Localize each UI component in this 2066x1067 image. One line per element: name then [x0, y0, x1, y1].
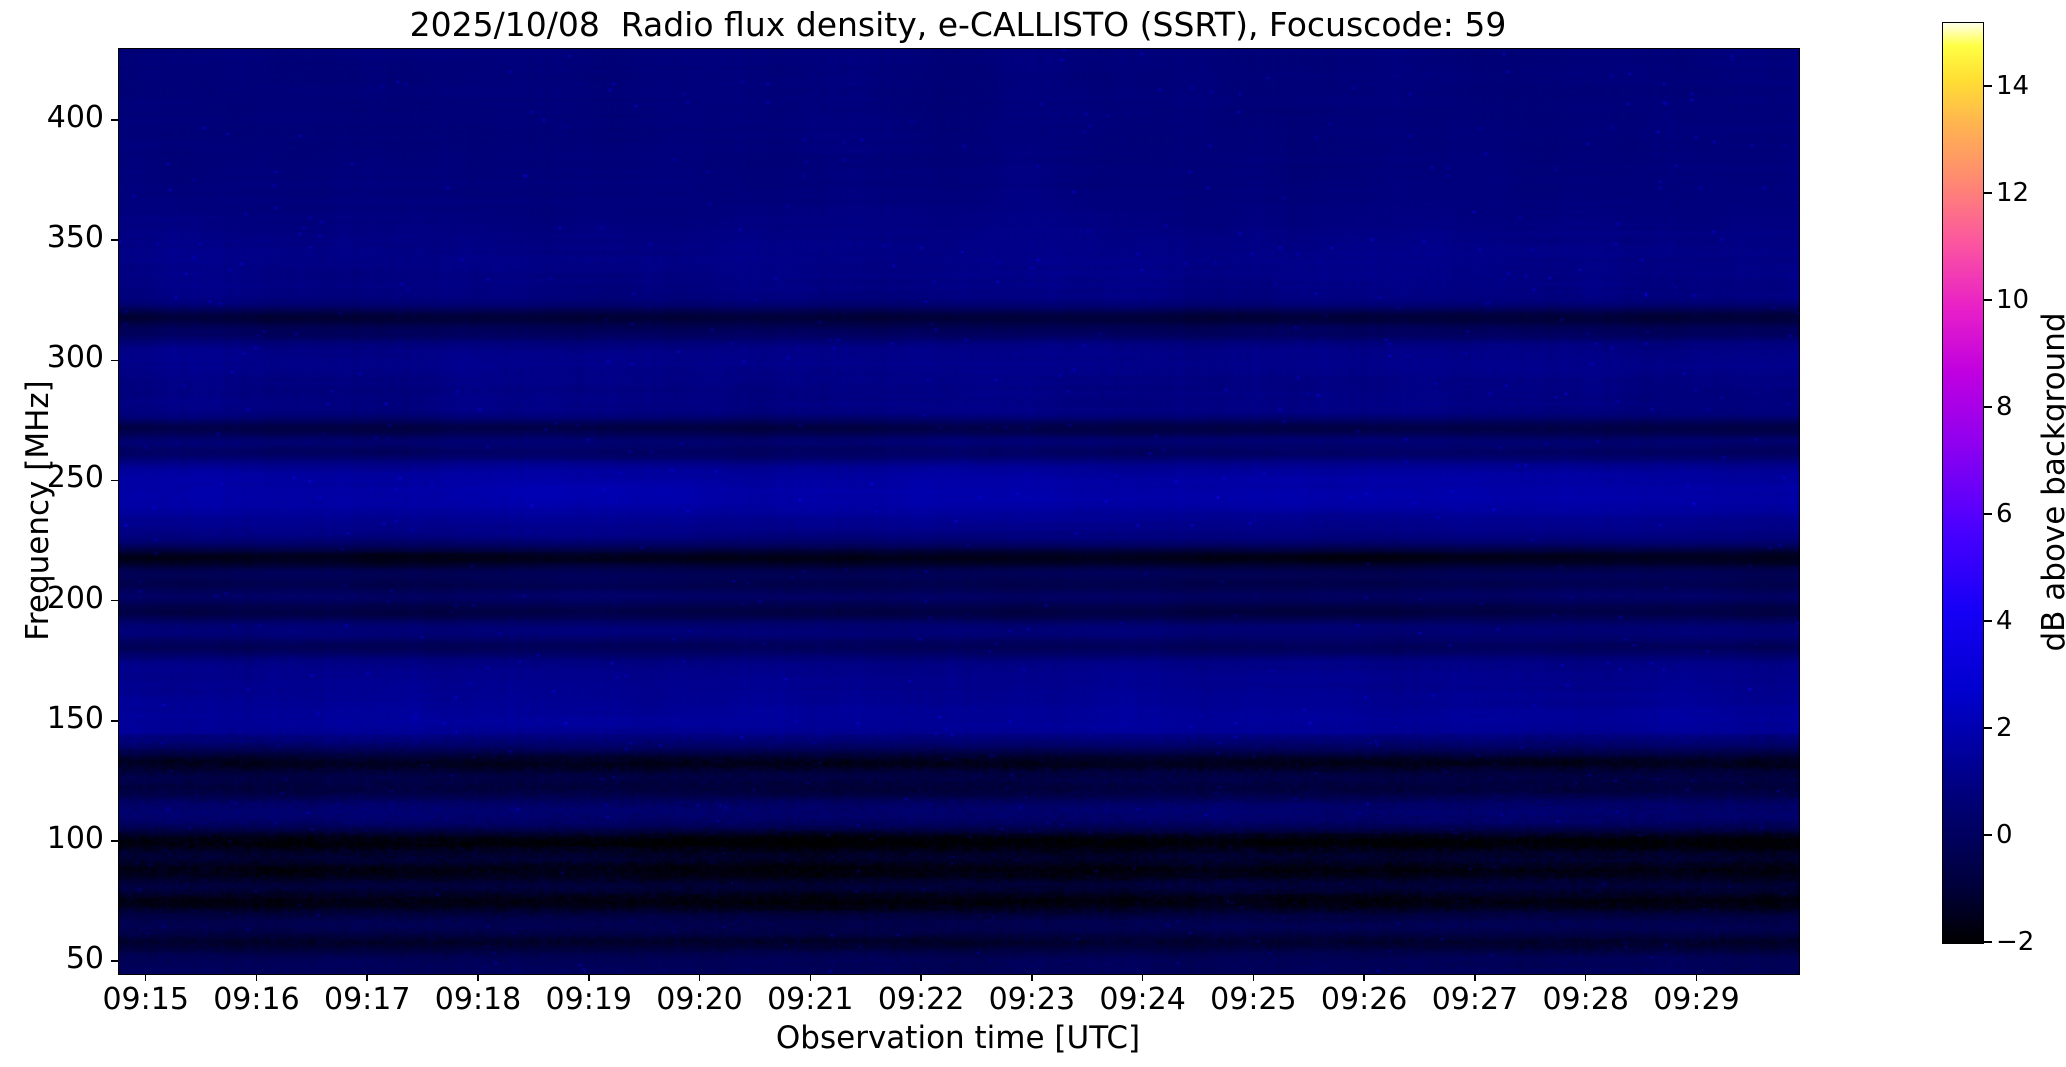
colorbar-tick-label: 0	[1996, 820, 2013, 850]
x-tick-mark	[256, 974, 258, 981]
y-tick-mark	[111, 840, 118, 842]
x-tick-label: 09:25	[1210, 982, 1296, 1017]
y-tick-label: 350	[47, 220, 104, 255]
colorbar-tick-mark	[1984, 620, 1992, 621]
x-tick-mark	[699, 974, 701, 981]
x-axis-label: Observation time [UTC]	[118, 1020, 1798, 1056]
y-tick-mark	[111, 720, 118, 722]
colorbar-tick-mark	[1984, 299, 1992, 300]
y-tick-mark	[111, 119, 118, 121]
x-tick-label: 09:23	[989, 982, 1075, 1017]
colorbar-tick-label: 2	[1996, 713, 2013, 743]
x-tick-mark	[1363, 974, 1365, 981]
x-tick-label: 09:17	[324, 982, 410, 1017]
colorbar-tick-mark	[1984, 513, 1992, 514]
x-tick-label: 09:16	[213, 982, 299, 1017]
y-tick-mark	[111, 960, 118, 962]
colorbar-tick-mark	[1984, 834, 1992, 835]
y-tick-label: 200	[47, 581, 104, 616]
page-title: 2025/10/08 Radio flux density, e-CALLIST…	[118, 6, 1798, 44]
spectrogram-axes[interactable]	[118, 48, 1800, 975]
x-tick-mark	[1696, 974, 1698, 981]
y-tick-label: 50	[66, 941, 104, 976]
x-tick-label: 09:27	[1432, 982, 1518, 1017]
x-tick-label: 09:26	[1321, 982, 1407, 1017]
y-tick-mark	[111, 360, 118, 362]
colorbar-tick-label: 12	[1996, 178, 2029, 208]
colorbar-tick-mark	[1984, 727, 1992, 728]
x-tick-label: 09:29	[1653, 982, 1739, 1017]
x-tick-mark	[1031, 974, 1033, 981]
y-tick-label: 150	[47, 701, 104, 736]
colorbar-tick-mark	[1984, 406, 1992, 407]
x-tick-mark	[1142, 974, 1144, 981]
colorbar-tick-label: 14	[1996, 71, 2029, 101]
x-tick-mark	[810, 974, 812, 981]
y-tick-mark	[111, 239, 118, 241]
colorbar-tick-mark	[1984, 85, 1992, 86]
x-tick-label: 09:18	[435, 982, 521, 1017]
x-tick-label: 09:22	[878, 982, 964, 1017]
colorbar-tick-label: 8	[1996, 392, 2013, 422]
figure-canvas: 2025/10/08 Radio flux density, e-CALLIST…	[0, 0, 2066, 1067]
x-tick-mark	[1474, 974, 1476, 981]
y-tick-label: 250	[47, 460, 104, 495]
y-tick-label: 400	[47, 100, 104, 135]
x-tick-label: 09:21	[767, 982, 853, 1017]
colorbar-label: dB above background	[2036, 22, 2066, 942]
x-tick-mark	[920, 974, 922, 981]
x-tick-mark	[477, 974, 479, 981]
x-tick-mark	[145, 974, 147, 981]
y-tick-label: 100	[47, 821, 104, 856]
y-tick-label: 300	[47, 340, 104, 375]
colorbar-tick-label: 4	[1996, 606, 2013, 636]
x-tick-mark	[1585, 974, 1587, 981]
y-tick-mark	[111, 600, 118, 602]
colorbar-tick-mark	[1984, 941, 1992, 942]
x-tick-label: 09:20	[656, 982, 742, 1017]
x-tick-mark	[366, 974, 368, 981]
colorbar-tick-label: −2	[1996, 927, 2034, 957]
y-tick-mark	[111, 480, 118, 482]
x-tick-mark	[588, 974, 590, 981]
x-tick-label: 09:15	[102, 982, 188, 1017]
colorbar-gradient	[1943, 23, 1983, 943]
colorbar-tick-label: 10	[1996, 285, 2029, 315]
colorbar[interactable]	[1942, 22, 1984, 944]
spectrogram-image[interactable]	[119, 49, 1799, 974]
colorbar-tick-label: 6	[1996, 499, 2013, 529]
x-tick-label: 09:19	[546, 982, 632, 1017]
x-tick-mark	[1253, 974, 1255, 981]
x-tick-label: 09:24	[1099, 982, 1185, 1017]
colorbar-tick-mark	[1984, 192, 1992, 193]
x-tick-label: 09:28	[1542, 982, 1628, 1017]
